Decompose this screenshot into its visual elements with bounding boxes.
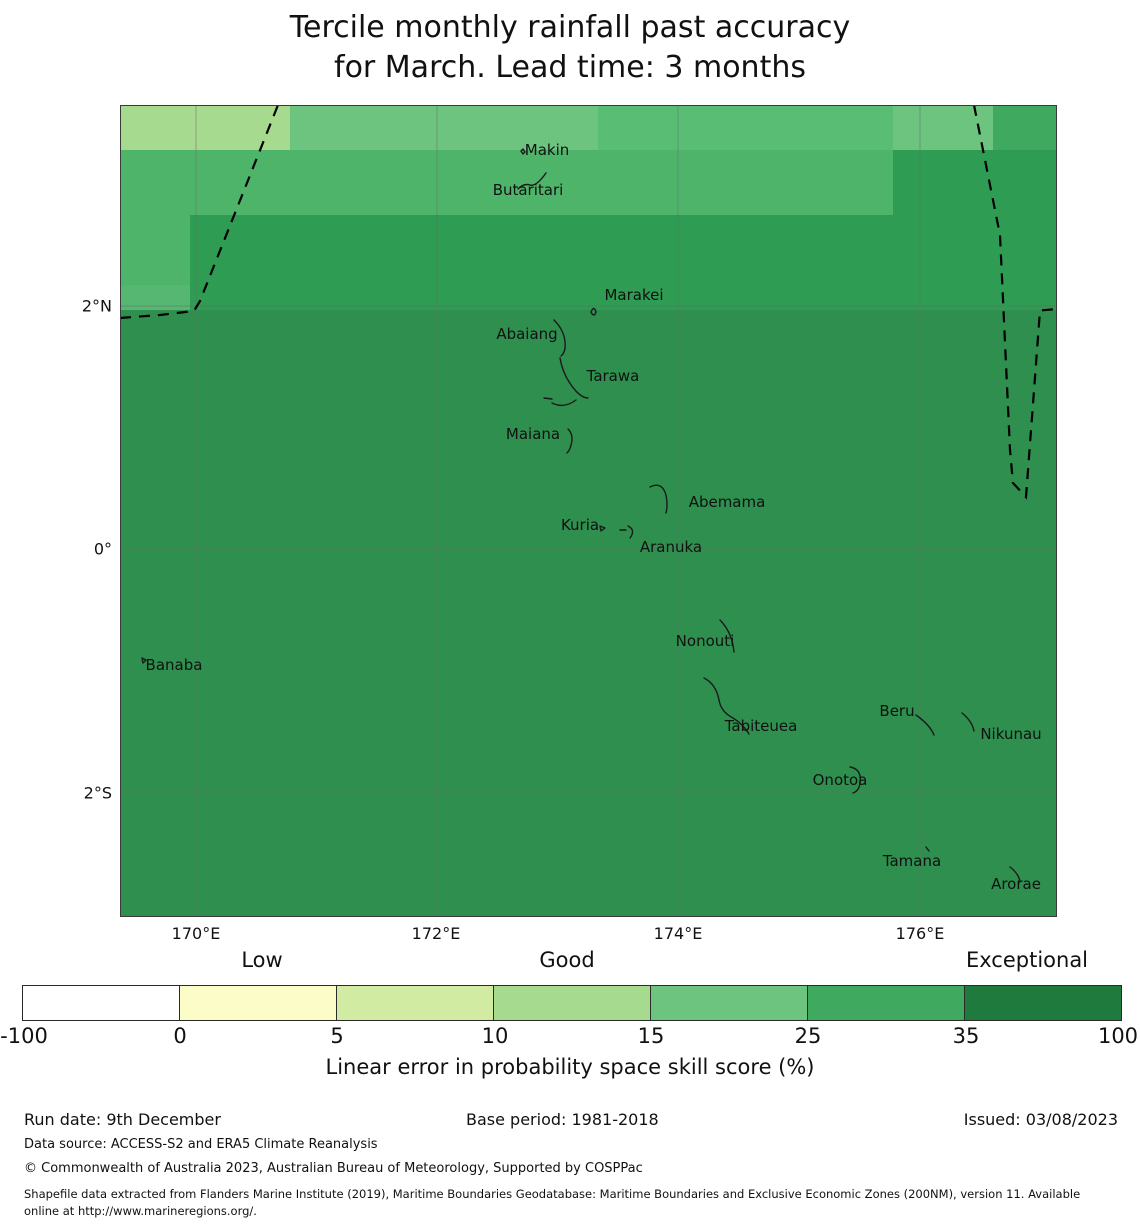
y-axis-tick-2N: 2°N <box>0 297 112 316</box>
colorbar-segment <box>650 986 807 1020</box>
heatmap-cell <box>120 150 190 215</box>
colorbar-tick-35: 35 <box>953 1024 980 1048</box>
footer: Run date: 9th December Base period: 1981… <box>0 1110 1140 1183</box>
heatmap-cell <box>190 150 495 215</box>
heatmap-cell <box>190 105 290 150</box>
footer-issued-date: Issued: 03/08/2023 <box>964 1110 1118 1129</box>
colorbar-segment <box>179 986 336 1020</box>
x-axis-tick-170E: 170°E <box>172 924 221 943</box>
colorbar-tick-25: 25 <box>795 1024 822 1048</box>
y-axis-tick-0: 0° <box>0 540 112 559</box>
colorbar-tick-labels: -100 0 5 10 15 25 35 100 <box>0 1024 1140 1052</box>
heatmap-cell-layer <box>120 105 1057 917</box>
chart-title-line2: for March. Lead time: 3 months <box>0 48 1140 88</box>
heatmap-cell <box>893 105 993 150</box>
colorbar-tick-100: 100 <box>1098 1024 1138 1048</box>
footer-copyright: © Commonwealth of Australia 2023, Austra… <box>24 1161 643 1176</box>
x-axis-tick-174E: 174°E <box>654 924 703 943</box>
colorbar-category-good: Good <box>539 948 594 972</box>
colorbar-axis-label: Linear error in probability space skill … <box>0 1055 1140 1079</box>
heatmap-cell <box>893 150 1057 215</box>
colorbar-category-labels: Low Good Exceptional <box>0 948 1140 978</box>
colorbar-segment <box>964 986 1121 1020</box>
footer-shapefile-note-line2: online at http://www.marineregions.org/. <box>24 1203 1124 1220</box>
colorbar[interactable] <box>22 985 1122 1021</box>
chart-title: Tercile monthly rainfall past accuracy f… <box>0 8 1140 87</box>
colorbar-segment <box>807 986 964 1020</box>
colorbar-category-exceptional: Exceptional <box>966 948 1088 972</box>
heatmap-cell <box>190 285 1057 310</box>
colorbar-segment <box>493 986 650 1020</box>
colorbar-segment <box>23 986 179 1020</box>
colorbar-tick--100: -100 <box>0 1024 48 1048</box>
heatmap-cell <box>993 105 1057 150</box>
colorbar-category-low: Low <box>241 948 282 972</box>
footer-shapefile-note: Shapefile data extracted from Flanders M… <box>24 1186 1124 1219</box>
footer-run-date: Run date: 9th December <box>24 1110 221 1129</box>
x-axis-tick-172E: 172°E <box>412 924 461 943</box>
footer-shapefile-note-line1: Shapefile data extracted from Flanders M… <box>24 1186 1124 1203</box>
footer-data-source: Data source: ACCESS-S2 and ERA5 Climate … <box>24 1137 378 1152</box>
heatmap-cell <box>190 215 1057 285</box>
colorbar-tick-5: 5 <box>330 1024 343 1048</box>
y-axis-tick-2S: 2°S <box>0 784 112 803</box>
colorbar-tick-0: 0 <box>173 1024 186 1048</box>
heatmap-cell <box>120 105 190 150</box>
skill-score-map: MakinButaritariMarakeiAbaiangTarawaMaian… <box>120 105 1057 917</box>
heatmap-cell <box>598 105 893 150</box>
heatmap-cell <box>120 285 190 310</box>
colorbar-segment <box>336 986 493 1020</box>
x-axis-tick-176E: 176°E <box>896 924 945 943</box>
chart-title-line1: Tercile monthly rainfall past accuracy <box>0 8 1140 48</box>
heatmap-cell <box>120 215 190 285</box>
heatmap-cell <box>120 310 1057 917</box>
colorbar-tick-15: 15 <box>638 1024 665 1048</box>
footer-base-period: Base period: 1981-2018 <box>466 1110 659 1129</box>
heatmap-cell <box>290 105 598 150</box>
heatmap-cell <box>495 150 893 215</box>
colorbar-tick-10: 10 <box>482 1024 509 1048</box>
